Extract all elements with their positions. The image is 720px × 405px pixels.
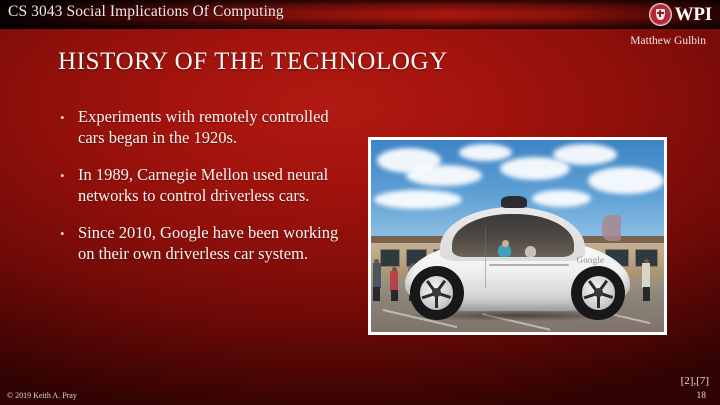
presentation-slide: CS 3043 Social Implications Of Computing… (0, 0, 720, 405)
page-title: HISTORY OF THE TECHNOLOGY (58, 48, 448, 76)
cloud-shape (553, 144, 617, 165)
person-legs (391, 290, 398, 301)
wheel-hub (582, 276, 615, 309)
cloud-shape (459, 144, 512, 161)
person-legs (643, 287, 650, 301)
wpi-wordmark: WPI (675, 5, 712, 24)
list-item: • Experiments with remotely controlled c… (57, 107, 357, 148)
presenter-name: Matthew Gulbin (630, 35, 706, 47)
bullet-marker-icon: • (57, 165, 78, 186)
slide-image-frame: Google (368, 137, 667, 335)
person-body (642, 263, 650, 287)
wheel-hub (420, 276, 453, 309)
wheel-spoke (436, 280, 447, 294)
wpi-seal-icon (649, 3, 672, 26)
lidar-sensor-icon (501, 196, 527, 208)
wpi-logo: WPI (649, 2, 712, 27)
driverless-car-photo: Google (371, 140, 664, 332)
slide-number: 18 (697, 391, 707, 401)
cloud-shape (406, 165, 482, 186)
course-title: CS 3043 Social Implications Of Computing (8, 3, 284, 21)
wheel-spoke (598, 292, 613, 299)
slide-header-bar: CS 3043 Social Implications Of Computing… (0, 0, 720, 29)
citation-references: [2],[7] (681, 375, 709, 387)
copyright-notice: © 2019 Keith A. Pray (7, 391, 77, 400)
list-item: • In 1989, Carnegie Mellon used neural n… (57, 165, 357, 206)
wheel-spoke (436, 292, 451, 299)
person-body (390, 271, 398, 291)
car-wheel-front (410, 266, 464, 320)
car-occupant (525, 246, 536, 257)
wheel-spoke (427, 280, 438, 294)
car-occupant-head (502, 240, 509, 247)
bullet-marker-icon: • (57, 107, 78, 128)
wheel-spoke (588, 280, 599, 294)
bullet-text: Since 2010, Google have been working on … (78, 223, 357, 264)
bullet-text: In 1989, Carnegie Mellon used neural net… (78, 165, 357, 206)
car-door-seam (485, 226, 487, 288)
bullet-text: Experiments with remotely controlled car… (78, 107, 357, 148)
wpi-shield-icon (656, 9, 665, 20)
bullet-marker-icon: • (57, 223, 78, 244)
wheel-spoke (597, 280, 608, 294)
list-item: • Since 2010, Google have been working o… (57, 223, 357, 264)
building-window (380, 249, 401, 266)
bullet-list: • Experiments with remotely controlled c… (57, 107, 357, 281)
wheel-spoke (435, 293, 438, 308)
car-taillight (602, 215, 621, 241)
car-door-handle (489, 264, 569, 267)
google-wordmark: Google (577, 255, 605, 265)
car-wheel-rear (571, 266, 625, 320)
person-body (373, 263, 381, 288)
cloud-shape (588, 167, 664, 194)
self-driving-car: Google (400, 200, 634, 319)
person-legs (373, 287, 380, 301)
wheel-spoke (597, 293, 600, 308)
